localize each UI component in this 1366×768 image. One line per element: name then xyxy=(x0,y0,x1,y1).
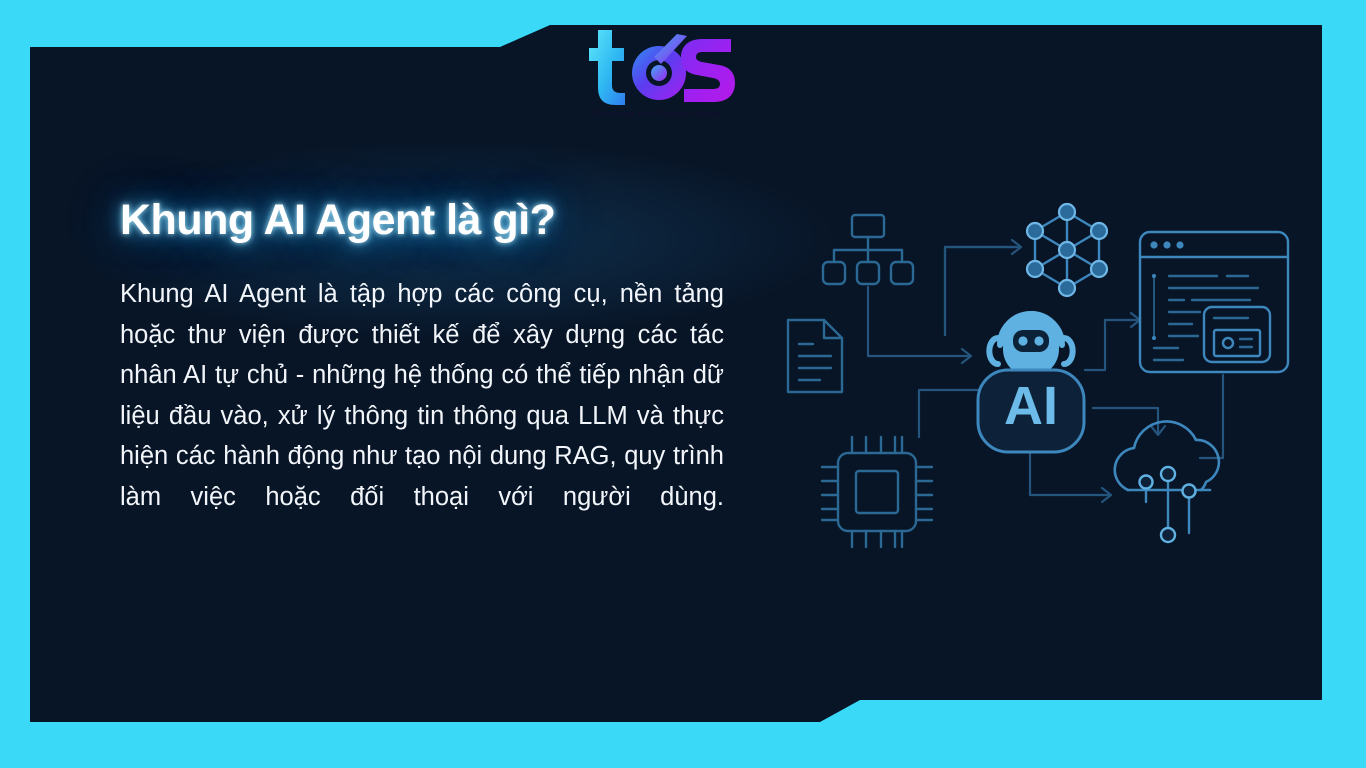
logo-mark-tos xyxy=(578,28,738,106)
ai-core-icon: AI xyxy=(978,370,1084,452)
code-window-icon xyxy=(1140,232,1288,372)
tos-logo-svg xyxy=(578,28,738,106)
brand-logo[interactable]: Transform Your Business Online xyxy=(565,28,750,133)
page-title: Khung AI Agent là gì? xyxy=(120,196,760,245)
slide-canvas: Transform Your Business Online Khung AI … xyxy=(0,0,1366,768)
neural-network-icon xyxy=(1027,204,1107,296)
cpu-chip-icon xyxy=(822,437,932,547)
robot-head-icon xyxy=(989,312,1072,376)
hierarchy-chart-icon xyxy=(823,215,913,284)
ai-core-label: AI xyxy=(1004,376,1058,436)
workflow-diagram-svg: AI xyxy=(780,190,1305,555)
logo-tagline: Transform Your Business Online xyxy=(565,108,750,118)
cloud-network-icon xyxy=(1115,421,1219,542)
ai-agent-workflow-diagram: AI xyxy=(780,190,1305,555)
document-icon xyxy=(788,320,842,392)
body-paragraph: Khung AI Agent là tập hợp các công cụ, n… xyxy=(120,274,724,558)
